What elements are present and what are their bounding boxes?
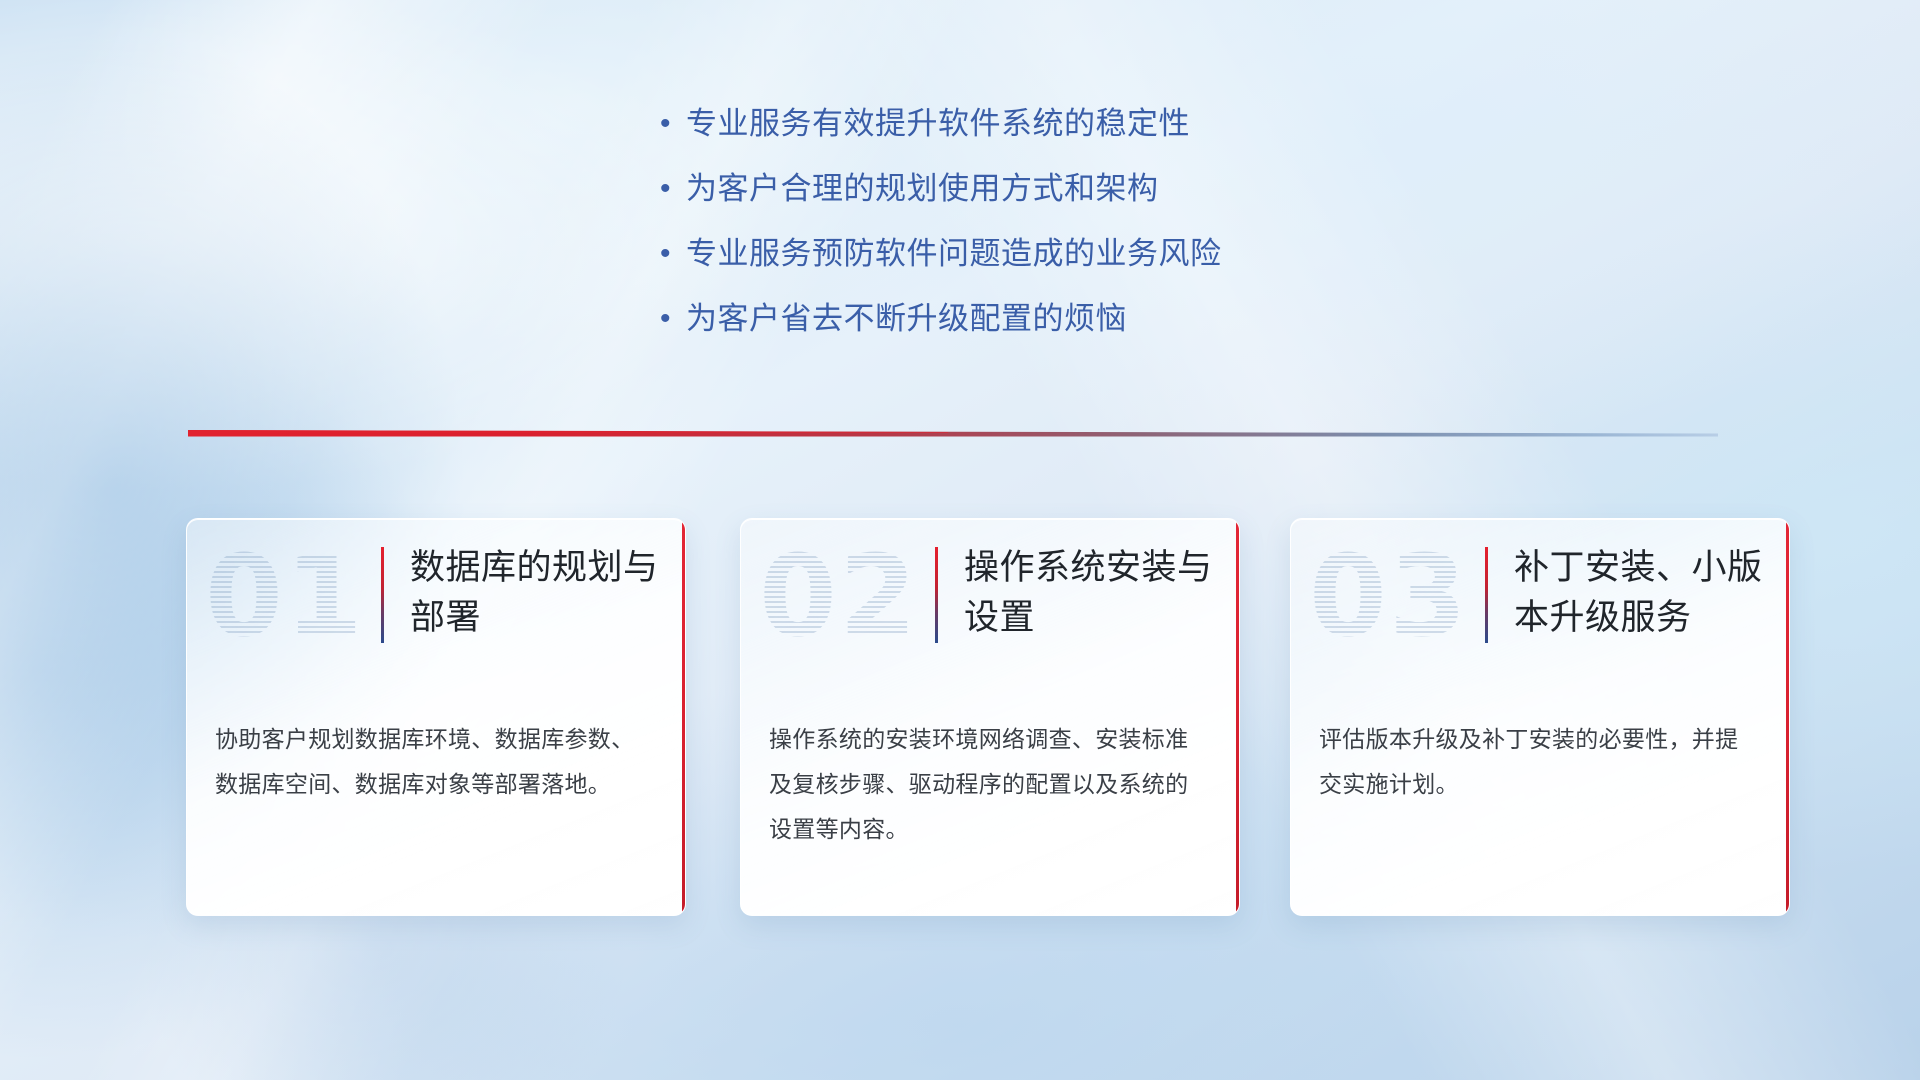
benefit-text: 专业服务预防软件问题造成的业务风险: [686, 230, 1222, 278]
card-title-bar-icon: [935, 547, 938, 643]
bullet-dot-icon: •: [660, 295, 686, 343]
bullet-dot-icon: •: [660, 165, 686, 213]
card-title: 操作系统安装与设置: [964, 543, 1232, 643]
benefit-text: 为客户合理的规划使用方式和架构: [686, 165, 1159, 213]
list-item: • 专业服务有效提升软件系统的稳定性: [660, 100, 1222, 165]
card-header: 补丁安装、小版本升级服务: [1485, 543, 1782, 643]
list-item: • 专业服务预防软件问题造成的业务风险: [660, 230, 1222, 295]
slide-canvas: • 专业服务有效提升软件系统的稳定性 • 为客户合理的规划使用方式和架构 • 专…: [0, 0, 1920, 1080]
card-number: 02: [759, 541, 919, 653]
bullet-dot-icon: •: [660, 100, 686, 148]
card-accent-stripe: [1786, 519, 1789, 915]
bullet-dot-icon: •: [660, 230, 686, 278]
card-body-text: 协助客户规划数据库环境、数据库参数、数据库空间、数据库对象等部署落地。: [215, 717, 651, 807]
card-header: 数据库的规划与部署: [381, 543, 678, 643]
benefit-text: 为客户省去不断升级配置的烦恼: [686, 295, 1127, 343]
card-body-text: 操作系统的安装环境网络调查、安装标准及复核步骤、驱动程序的配置以及系统的设置等内…: [769, 717, 1205, 852]
divider-shape-icon: [188, 424, 1718, 440]
card-body-text: 评估版本升级及补丁安装的必要性，并提交实施计划。: [1319, 717, 1755, 807]
card-number: 01: [205, 541, 365, 653]
list-item: • 为客户省去不断升级配置的烦恼: [660, 295, 1222, 360]
benefit-text: 专业服务有效提升软件系统的稳定性: [686, 100, 1190, 148]
feature-card[interactable]: 03 补丁安装、小版本升级服务 评估版本升级及补丁安装的必要性，并提交实施计划。: [1290, 518, 1790, 916]
card-number: 03: [1309, 541, 1469, 653]
benefits-list: • 专业服务有效提升软件系统的稳定性 • 为客户合理的规划使用方式和架构 • 专…: [660, 100, 1222, 360]
feature-card[interactable]: 01 数据库的规划与部署 协助客户规划数据库环境、数据库参数、数据库空间、数据库…: [186, 518, 686, 916]
list-item: • 为客户合理的规划使用方式和架构: [660, 165, 1222, 230]
card-title: 补丁安装、小版本升级服务: [1514, 543, 1782, 643]
card-title-bar-icon: [381, 547, 384, 643]
card-title-bar-icon: [1485, 547, 1488, 643]
section-divider: [188, 424, 1718, 440]
card-title: 数据库的规划与部署: [410, 543, 678, 643]
card-accent-stripe: [682, 519, 685, 915]
feature-card[interactable]: 02 操作系统安装与设置 操作系统的安装环境网络调查、安装标准及复核步骤、驱动程…: [740, 518, 1240, 916]
feature-cards: 01 数据库的规划与部署 协助客户规划数据库环境、数据库参数、数据库空间、数据库…: [0, 518, 1920, 938]
card-accent-stripe: [1236, 519, 1239, 915]
card-header: 操作系统安装与设置: [935, 543, 1232, 643]
